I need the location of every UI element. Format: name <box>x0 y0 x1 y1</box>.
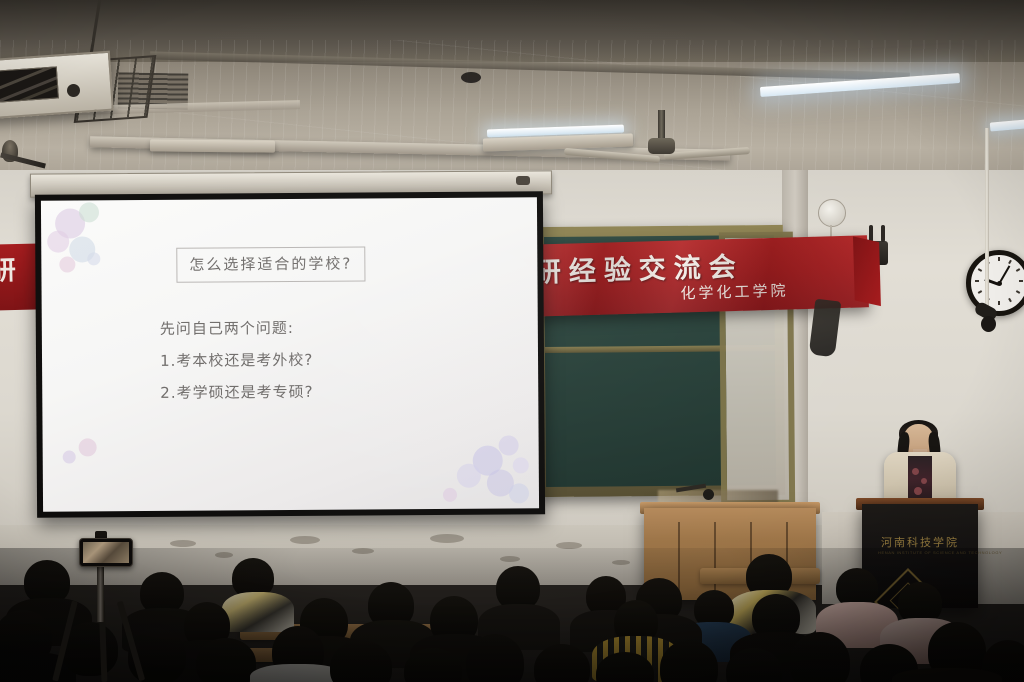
projector-mount-knob <box>67 84 80 97</box>
screen-pull-knob[interactable] <box>516 176 530 185</box>
phone-screen-preview <box>83 542 129 563</box>
desk-microphone-head-icon <box>703 489 714 500</box>
smartphone-recorder[interactable] <box>79 538 133 567</box>
projection-screen-frame: 怎么选择适合的学校? 先问自己两个问题: 1.考本校还是考外校? 2.考学硕还是… <box>35 191 545 518</box>
slide-decor-bubble <box>499 435 519 455</box>
audience-area <box>0 548 1024 682</box>
slide-decor-bubble <box>513 457 529 473</box>
clock-tick <box>1016 290 1020 294</box>
audience-shoulders <box>892 668 1002 682</box>
slide-decor-bubble <box>457 464 481 488</box>
slide-decor-bubble <box>79 202 99 222</box>
ceiling-fan-motor <box>648 138 675 154</box>
clock-tick <box>1008 260 1012 264</box>
shirt-pattern <box>912 468 919 475</box>
clock-tick <box>978 268 982 272</box>
projection-screen-surface: 怎么选择适合的学校? 先问自己两个问题: 1.考本校还是考外校? 2.考学硕还是… <box>41 197 539 511</box>
slide-decor-bubble <box>63 450 76 463</box>
projector-vent-window <box>0 66 59 103</box>
clock-tick <box>978 290 982 294</box>
microphone-capsule <box>981 316 996 332</box>
ceiling-speaker-icon <box>818 199 846 227</box>
slide-title: 怎么选择适合的学校? <box>176 246 365 282</box>
wall-clock <box>966 250 1024 316</box>
shirt-pattern <box>921 478 927 484</box>
clock-tick <box>1019 280 1023 282</box>
slide-decor-bubble <box>509 483 529 503</box>
lecture-hall-photo: 研 研经验交流会 化学化工学院 怎么选择适合的学校? <box>0 0 1024 682</box>
audience-head <box>196 638 256 682</box>
clock-tick <box>998 301 1000 305</box>
slide-question-1: 1.考本校还是考外校? <box>160 349 313 371</box>
projector-enclosure <box>0 51 114 120</box>
slide-decor-bubble <box>47 231 69 253</box>
wall-scuff <box>290 536 320 544</box>
slide-decor-bubble <box>443 488 457 502</box>
slide-decor-bubble <box>87 252 100 265</box>
light-fixture-body <box>150 139 275 152</box>
ceiling-sensor-icon <box>461 72 481 83</box>
banner-left-text: 研 <box>0 250 16 288</box>
router-antenna <box>881 225 885 242</box>
clock-tick <box>1016 268 1020 272</box>
wall-scuff <box>430 534 464 543</box>
clock-tick <box>975 280 979 282</box>
audience-shoulders <box>222 592 294 632</box>
hanging-microphone-cable <box>985 128 989 308</box>
wall-scuff <box>170 540 196 547</box>
clock-center <box>997 281 1002 286</box>
clock-tick <box>1008 298 1012 302</box>
slide-prompt: 先问自己两个问题: <box>160 317 294 339</box>
clock-tick <box>998 257 1000 261</box>
slide-decor-bubble <box>79 438 97 456</box>
shirt-pattern <box>914 487 922 495</box>
slide-question-2: 2.考学硕还是考专硕? <box>160 381 313 403</box>
slide-decor-bubble <box>59 256 75 272</box>
